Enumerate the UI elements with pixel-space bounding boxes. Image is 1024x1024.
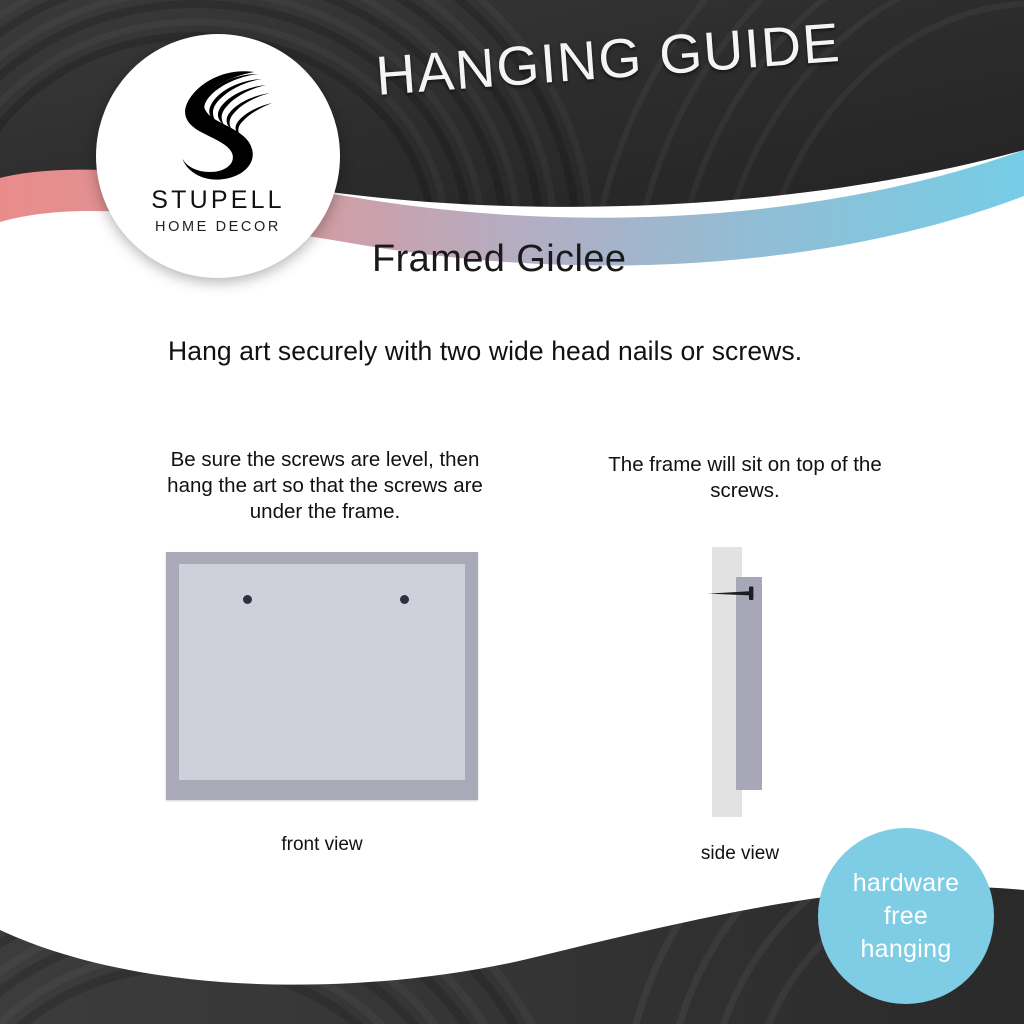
side-view-label: side view xyxy=(650,843,830,865)
front-view-mat xyxy=(179,564,465,780)
side-view-diagram xyxy=(700,545,810,820)
side-view-caption: The frame will sit on top of the screws. xyxy=(595,452,895,504)
badge-line-2: free xyxy=(884,900,928,933)
front-view-label: front view xyxy=(232,834,412,856)
screw-dot-right xyxy=(400,595,409,604)
hardware-free-hanging-badge: hardware free hanging xyxy=(818,828,994,1004)
front-view-caption: Be sure the screws are level, then hang … xyxy=(160,447,490,525)
badge-line-3: hanging xyxy=(860,933,951,966)
instruction-lede: Hang art securely with two wide head nai… xyxy=(168,336,868,367)
stupell-swoosh-icon xyxy=(158,60,278,182)
badge-line-1: hardware xyxy=(853,867,960,900)
front-view-diagram xyxy=(166,552,478,800)
screw-dot-left xyxy=(243,595,252,604)
nail-icon xyxy=(706,585,762,601)
hanging-guide-page: HANGING GUIDE STUPELL HOME DECOR Framed … xyxy=(0,0,1024,1024)
brand-logo-badge: STUPELL HOME DECOR xyxy=(96,34,340,278)
side-view-frame xyxy=(736,577,762,790)
product-type-heading: Framed Giclee xyxy=(372,238,626,281)
logo-tagline: HOME DECOR xyxy=(155,220,281,235)
logo-wordmark: STUPELL xyxy=(151,188,285,213)
